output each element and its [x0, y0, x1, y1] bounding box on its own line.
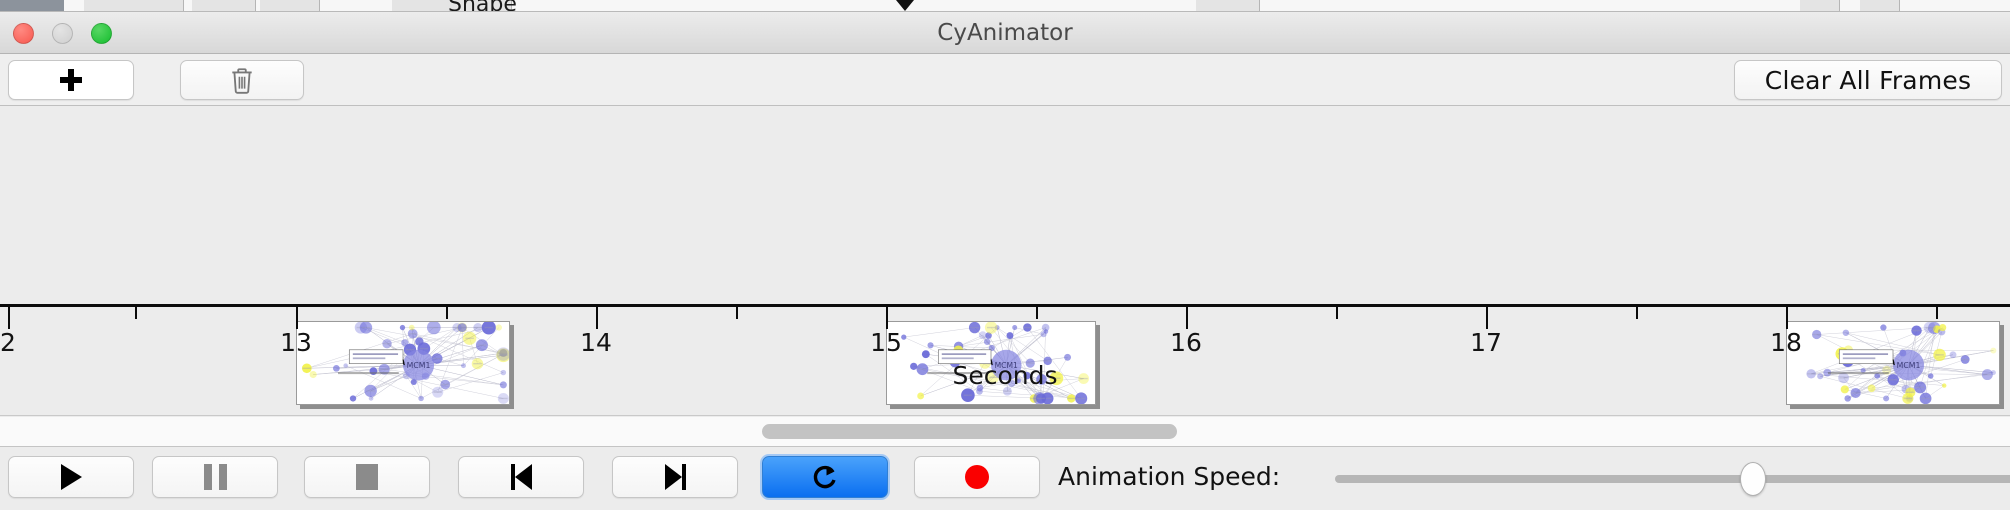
axis-tick-label: 16 — [1170, 328, 1202, 357]
title-bar: CyAnimator — [0, 12, 2010, 54]
animation-speed-label: Animation Speed: — [1058, 456, 1280, 498]
axis-tick-label: 14 — [580, 328, 612, 357]
axis-tick — [596, 307, 598, 329]
record-button[interactable] — [914, 456, 1040, 498]
axis-tick — [736, 307, 738, 319]
axis-tick — [1186, 307, 1188, 329]
add-frame-button[interactable] — [8, 60, 134, 100]
skip-back-icon — [511, 464, 532, 490]
axis-tick — [296, 307, 298, 329]
clear-all-frames-button[interactable]: Clear All Frames — [1734, 60, 2002, 100]
play-button[interactable] — [8, 456, 134, 498]
scrollbar-thumb[interactable] — [762, 424, 1177, 439]
loop-icon — [810, 462, 840, 492]
delete-frame-button[interactable] — [180, 60, 304, 100]
axis-tick-label: 13 — [280, 328, 312, 357]
skip-forward-icon — [665, 464, 686, 490]
timeline-axis — [0, 304, 2010, 307]
loop-button[interactable] — [762, 456, 888, 498]
timeline-panel[interactable]: MCM1 MCM1 MCM1 — [0, 106, 2010, 416]
axis-tick — [1786, 307, 1788, 329]
axis-tick — [1486, 307, 1488, 329]
record-icon — [965, 465, 989, 489]
bg-chrome-seg — [192, 0, 256, 12]
playback-toolbar: Animation Speed: — [0, 448, 2010, 510]
pause-button[interactable] — [152, 456, 278, 498]
skip-to-start-button[interactable] — [458, 456, 584, 498]
background-window-label: Shape — [448, 0, 517, 12]
axis-tick-label: 2 — [0, 328, 16, 357]
timeline-scrollbar[interactable] — [0, 417, 2010, 447]
axis-tick — [1636, 307, 1638, 319]
skip-to-end-button[interactable] — [612, 456, 738, 498]
stop-icon — [356, 464, 378, 490]
play-icon — [61, 464, 82, 490]
axis-tick — [886, 307, 888, 329]
trash-icon — [229, 66, 255, 94]
slider-track — [1335, 475, 2010, 483]
bg-chrome-seg — [1860, 0, 1900, 12]
animation-speed-slider[interactable] — [1335, 475, 2010, 483]
axis-tick — [135, 307, 137, 319]
cyanimator-window: Shape CyAnimator Clear All Frames — [0, 0, 2010, 510]
plus-icon — [60, 69, 82, 91]
bg-chrome-seg — [260, 0, 320, 12]
axis-tick — [1036, 307, 1038, 319]
axis-tick — [1936, 307, 1938, 319]
bg-chrome-seg — [1800, 0, 1840, 12]
axis-tick — [1336, 307, 1338, 319]
window-title: CyAnimator — [0, 12, 2010, 54]
axis-tick — [8, 307, 10, 329]
bg-chrome-notch — [896, 0, 914, 11]
background-window-strip: Shape — [0, 0, 2010, 12]
pause-icon — [204, 464, 227, 490]
axis-tick — [446, 307, 448, 319]
axis-tick-label: 17 — [1470, 328, 1502, 357]
bg-chrome-block — [0, 0, 64, 12]
slider-knob[interactable] — [1740, 462, 1766, 496]
axis-tick-label: 18 — [1770, 328, 1802, 357]
bg-chrome-seg — [1196, 0, 1260, 12]
stop-button[interactable] — [304, 456, 430, 498]
axis-title: Seconds — [0, 361, 2010, 390]
bg-chrome-seg — [84, 0, 184, 12]
axis-tick-label: 15 — [870, 328, 902, 357]
toolbar: Clear All Frames — [0, 54, 2010, 106]
